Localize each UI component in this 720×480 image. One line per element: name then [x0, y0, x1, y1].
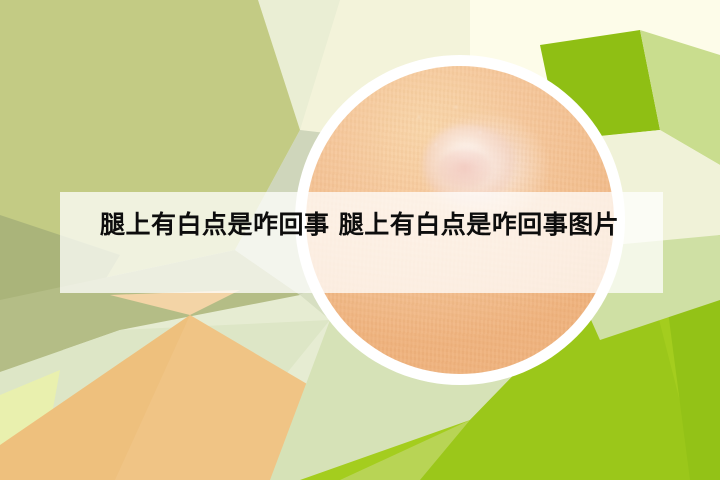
caption-title: 腿上有白点是咋回事 腿上有白点是咋回事图片	[100, 208, 645, 242]
skin-flecks	[398, 97, 503, 165]
poster-canvas: 腿上有白点是咋回事 腿上有白点是咋回事图片	[0, 0, 720, 480]
